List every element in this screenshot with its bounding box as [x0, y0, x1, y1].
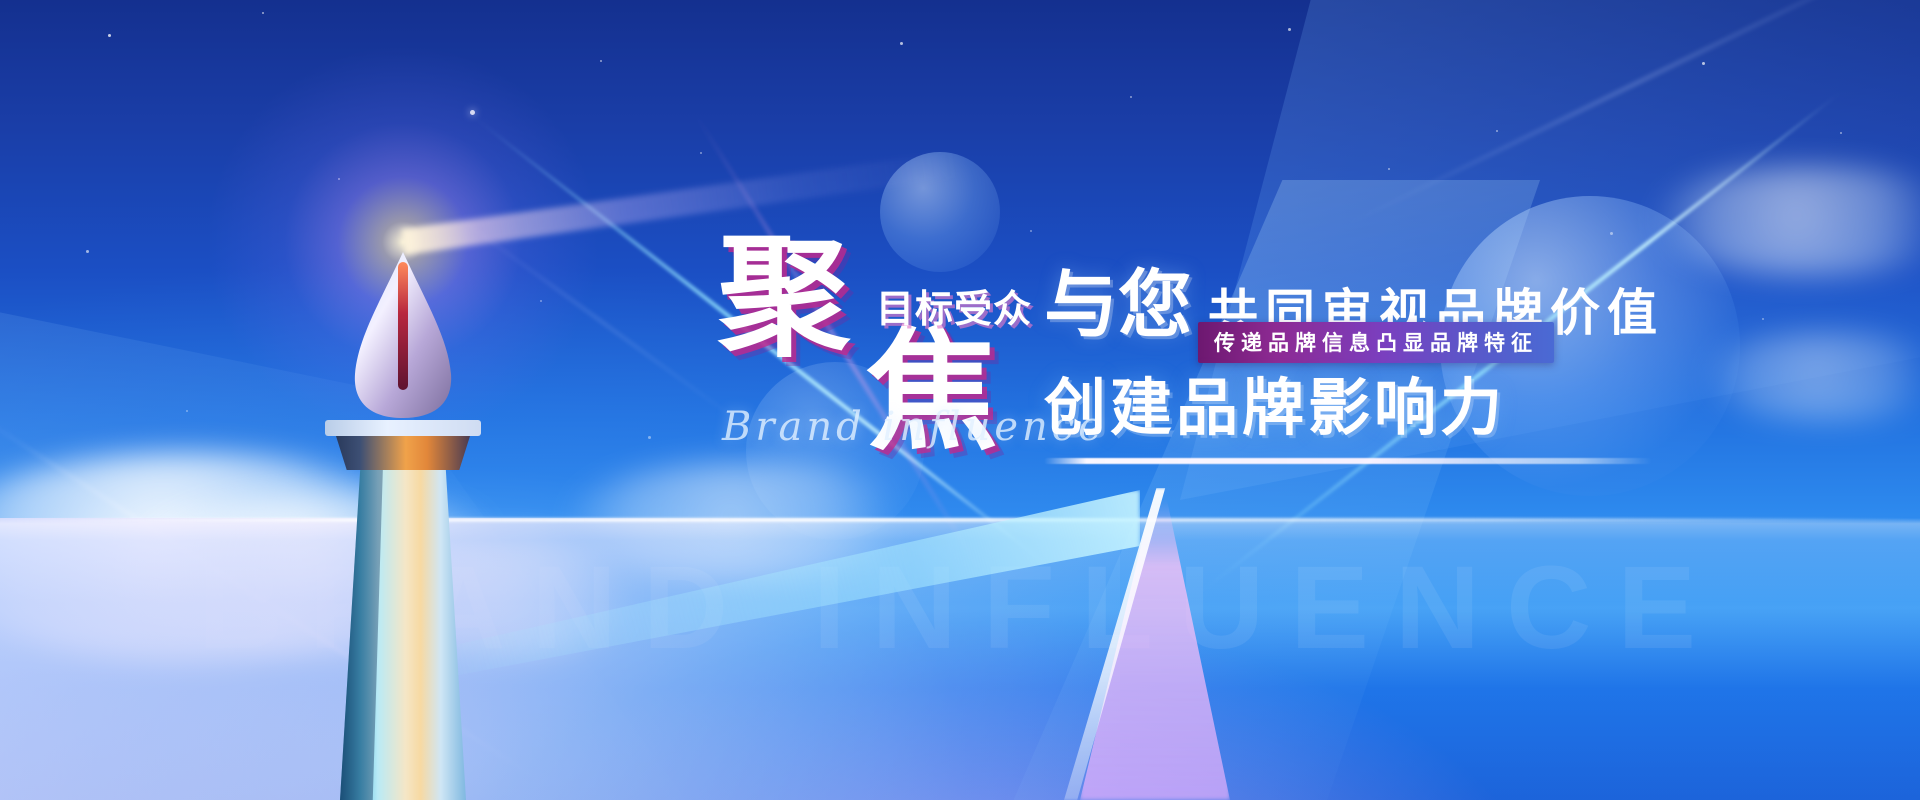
- beam-pink-descending: [1080, 500, 1230, 800]
- wedge-right-upper: [1180, 0, 1920, 500]
- secondary-headline: 创建品牌影响力: [1044, 378, 1506, 440]
- cloud-right-lower: [1700, 332, 1920, 422]
- focus-char-jiao: 焦: [866, 326, 998, 458]
- cloud-right-upper: [1648, 166, 1920, 276]
- ground-plane-left: [0, 518, 1120, 800]
- lead-phrase: 与您: [1044, 268, 1192, 342]
- beacon-lightray-icon: [401, 151, 959, 255]
- headline-divider: [1044, 458, 1652, 464]
- wedge-center-beam: [980, 180, 1540, 800]
- value-phrase: 共同审视品牌价值: [1208, 288, 1664, 338]
- beam-cyan-ascending: [380, 490, 1140, 690]
- lighthouse-gallery: [336, 436, 470, 470]
- light-streak-right-up: [1195, 90, 1844, 598]
- ground-plane: [0, 518, 1920, 800]
- planet-sphere-mid: [746, 362, 924, 540]
- beam-white-crossing: [1020, 488, 1240, 800]
- script-tagline: Brand influence: [722, 404, 1106, 450]
- target-audience-label: 目标受众: [876, 278, 1032, 333]
- light-streak-magenta-top: [689, 105, 988, 581]
- lighthouse-collar: [325, 420, 481, 436]
- starfield: [0, 0, 1920, 800]
- value-proposition-line: 与您 共同审视品牌价值: [1044, 268, 1664, 342]
- background-watermark: BRAND INFLUENCE: [0, 540, 1920, 676]
- light-streak-upper-right: [1319, 0, 1920, 239]
- focus-char-ju: 聚: [718, 232, 850, 364]
- planet-sphere-large: [1440, 196, 1740, 496]
- light-streak-left-down: [469, 112, 1055, 571]
- pen-nib-beacon-lighthouse: [318, 250, 488, 800]
- banner-canvas: BRAND INFLUENCE: [0, 0, 1920, 800]
- horizon-line: [0, 518, 1920, 522]
- headline-group: 聚 焦 目标受众 Brand influence 与您 共同审视品牌价值 传递品…: [0, 0, 1920, 800]
- planet-sphere-small: [880, 152, 1000, 272]
- status-badge: 传递品牌信息凸显品牌特征: [1198, 322, 1554, 363]
- cloud-center: [560, 462, 940, 582]
